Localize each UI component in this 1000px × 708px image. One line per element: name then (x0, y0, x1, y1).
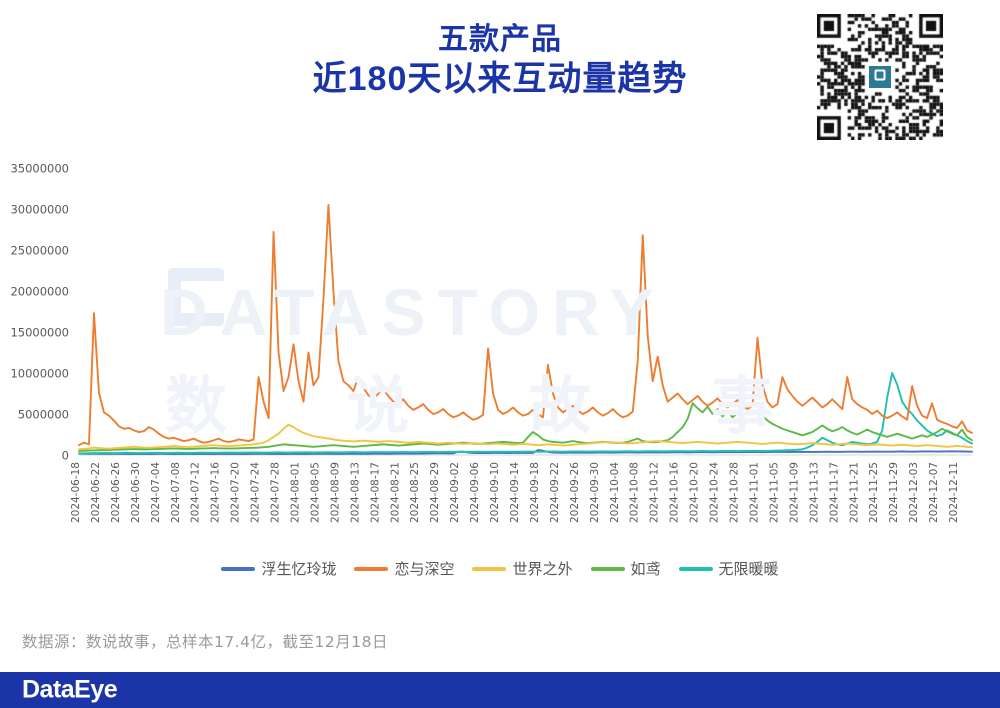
x-axis-tick-label: 2024-06-30 (130, 462, 142, 523)
x-axis-tick-label: 2024-09-26 (569, 462, 581, 523)
dataeye-logo: DataEye (22, 676, 117, 705)
x-axis-tick-label: 2024-08-29 (429, 462, 441, 523)
legend-item[interactable]: 如鸢 (587, 558, 665, 579)
legend-label: 恋与深空 (394, 558, 454, 579)
x-axis-tick-label: 2024-11-09 (788, 462, 800, 523)
legend-item[interactable]: 恋与深空 (350, 558, 458, 579)
y-axis-tick-label: 20000000 (10, 285, 69, 299)
x-axis-tick-label: 2024-07-04 (150, 462, 162, 523)
x-axis-tick-label: 2024-07-12 (190, 462, 202, 523)
y-axis-tick-label: 10000000 (10, 367, 69, 381)
legend-swatch (354, 567, 388, 571)
x-axis-tick-label: 2024-06-26 (110, 462, 122, 523)
legend-label: 世界之外 (512, 558, 572, 579)
legend-item[interactable]: 浮生忆玲珑 (217, 558, 340, 579)
legend-swatch (591, 567, 625, 571)
x-axis-tick-label: 2024-07-24 (250, 462, 262, 523)
legend-label: 如鸢 (631, 558, 661, 579)
x-axis-tick-label: 2024-08-05 (309, 462, 321, 523)
x-axis-tick-label: 2024-06-18 (70, 462, 82, 523)
chart-legend: 浮生忆玲珑恋与深空世界之外如鸢无限暖暖 (0, 558, 1000, 579)
x-axis-tick-label: 2024-08-01 (290, 462, 302, 523)
footer-bar: DataEye (0, 672, 1000, 708)
x-axis-tick-label: 2024-10-20 (689, 462, 701, 523)
x-axis-tick-label: 2024-09-22 (549, 462, 561, 523)
legend-item[interactable]: 世界之外 (468, 558, 576, 579)
x-axis-tick-label: 2024-10-04 (609, 462, 621, 523)
x-axis-tick-label: 2024-11-25 (868, 462, 880, 523)
x-axis-tick-label: 2024-11-01 (748, 462, 760, 523)
line-chart: 0500000010000000150000002000000025000000… (0, 150, 1000, 550)
x-axis-tick-label: 2024-11-05 (768, 462, 780, 523)
y-axis-tick-label: 0 (62, 449, 69, 463)
x-axis-tick-label: 2024-08-21 (389, 462, 401, 523)
y-axis-tick-label: 15000000 (10, 326, 69, 340)
x-axis-tick-label: 2024-07-08 (170, 462, 182, 523)
legend-label: 浮生忆玲珑 (261, 558, 336, 579)
x-axis-tick-label: 2024-07-28 (270, 462, 282, 523)
x-axis-tick-label: 2024-06-22 (90, 462, 102, 523)
legend-swatch (221, 567, 255, 571)
x-axis-tick-label: 2024-09-14 (509, 462, 521, 523)
x-axis-tick-label: 2024-10-08 (629, 462, 641, 523)
y-axis-tick-label: 25000000 (10, 244, 69, 258)
x-axis-tick-label: 2024-07-16 (210, 462, 222, 523)
y-axis-tick-label: 5000000 (18, 408, 69, 422)
x-axis-tick-label: 2024-11-17 (828, 462, 840, 523)
y-axis-tick-label: 30000000 (10, 203, 69, 217)
x-axis-tick-label: 2024-11-13 (808, 462, 820, 523)
x-axis-tick-label: 2024-10-12 (649, 462, 661, 523)
x-axis-tick-label: 2024-07-20 (230, 462, 242, 523)
x-axis-tick-label: 2024-09-30 (589, 462, 601, 523)
legend-label: 无限暖暖 (719, 558, 779, 579)
qr-code-center-logo (867, 64, 893, 90)
x-axis-tick-label: 2024-08-13 (349, 462, 361, 523)
x-axis-tick-label: 2024-09-06 (469, 462, 481, 523)
x-axis-tick-label: 2024-08-17 (369, 462, 381, 523)
legend-item[interactable]: 无限暖暖 (675, 558, 783, 579)
x-axis-tick-label: 2024-11-21 (848, 462, 860, 523)
x-axis-tick-label: 2024-12-03 (908, 462, 920, 523)
y-axis-tick-label: 35000000 (10, 162, 69, 176)
x-axis-tick-label: 2024-12-07 (928, 462, 940, 523)
qr-code-center-logo-inner (875, 70, 886, 81)
x-axis-tick-label: 2024-08-25 (409, 462, 421, 523)
x-axis-tick-label: 2024-11-29 (888, 462, 900, 523)
legend-swatch (679, 567, 713, 571)
x-axis-tick-label: 2024-10-28 (729, 462, 741, 523)
qr-code[interactable] (817, 14, 943, 140)
chart-area: DATASTORY 数说故事 0500000010000000150000002… (0, 150, 1000, 550)
x-axis-tick-label: 2024-10-16 (669, 462, 681, 523)
legend-swatch (472, 567, 506, 571)
series-line (79, 205, 972, 445)
x-axis-tick-label: 2024-08-09 (329, 462, 341, 523)
x-axis-tick-label: 2024-09-10 (489, 462, 501, 523)
x-axis-tick-label: 2024-09-02 (449, 462, 461, 523)
data-source-note: 数据源：数说故事，总样本17.4亿，截至12月18日 (22, 630, 388, 652)
x-axis-tick-label: 2024-12-11 (948, 462, 960, 523)
x-axis-tick-label: 2024-10-24 (709, 462, 721, 523)
x-axis-tick-label: 2024-09-18 (529, 462, 541, 523)
